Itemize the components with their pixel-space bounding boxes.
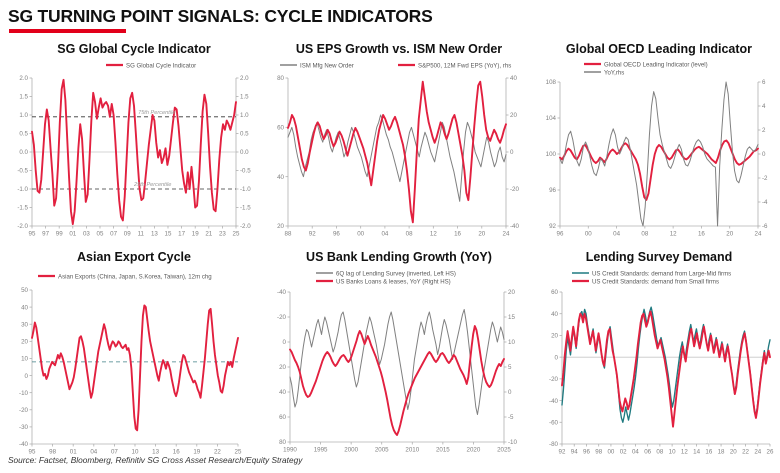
x-tick-label: 06 bbox=[644, 449, 651, 456]
y-tick-label: 0 bbox=[283, 339, 287, 346]
x-tick-label: 96 bbox=[557, 231, 564, 238]
x-tick-label: 09 bbox=[124, 231, 131, 238]
legend-label: Asian Exports (China, Japan, S.Korea, Ta… bbox=[58, 273, 212, 280]
y2-tick-label: 1.5 bbox=[240, 94, 249, 101]
x-tick-label: 2015 bbox=[436, 447, 450, 454]
x-tick-label: 19 bbox=[192, 231, 199, 238]
legend-label: US Credit Standards: demand from Large-M… bbox=[592, 270, 731, 277]
y-tick-label: 0.5 bbox=[19, 131, 28, 138]
x-tick-label: 92 bbox=[559, 449, 566, 456]
panel-us-eps-vs-ism: US EPS Growth vs. ISM New Order ISM Mfg … bbox=[268, 42, 530, 242]
y-tick-label: -0.5 bbox=[17, 168, 28, 175]
x-tick-label: 23 bbox=[219, 231, 226, 238]
x-tick-label: 11 bbox=[138, 231, 145, 238]
y-tick-label: 30 bbox=[21, 321, 28, 328]
chart-svg: 6Q lag of Lending Survey (inverted, Left… bbox=[268, 264, 530, 460]
x-tick-label: 99 bbox=[56, 231, 63, 238]
y-tick-label: 0.0 bbox=[19, 149, 28, 156]
chart-annotation: 75th Percentile bbox=[138, 110, 175, 116]
y-tick-label: -20 bbox=[277, 314, 287, 321]
y-tick-label: 10 bbox=[21, 356, 28, 363]
y-tick-label: 20 bbox=[551, 333, 558, 340]
y-tick-label: 0 bbox=[25, 373, 29, 380]
y-tick-label: 80 bbox=[279, 439, 286, 446]
x-tick-label: 97 bbox=[42, 231, 49, 238]
x-tick-label: 98 bbox=[595, 449, 602, 456]
y-tick-label: -1.0 bbox=[17, 186, 28, 193]
y-tick-label: -1.5 bbox=[17, 205, 28, 212]
legend-entry: US Credit Standards: demand from Small f… bbox=[572, 278, 719, 285]
y2-tick-label: 0 bbox=[762, 151, 766, 158]
y-tick-label: -40 bbox=[19, 441, 29, 448]
x-tick-label: 08 bbox=[656, 449, 663, 456]
y-tick-label: 20 bbox=[21, 339, 28, 346]
panel-title: Lending Survey Demand bbox=[538, 250, 780, 264]
chart-annotation: 25th Percentile bbox=[133, 182, 171, 188]
x-tick-label: 2020 bbox=[467, 447, 481, 454]
x-tick-label: 20 bbox=[726, 231, 733, 238]
y2-tick-label: -2 bbox=[762, 175, 768, 182]
panel-title: US Bank Lending Growth (YoY) bbox=[268, 250, 530, 264]
legend-label: US Banks Loans & leases, YoY (Right HS) bbox=[336, 278, 451, 285]
x-tick-label: 15 bbox=[165, 231, 172, 238]
y2-tick-label: -40 bbox=[510, 223, 520, 230]
x-tick-label: 12 bbox=[430, 231, 437, 238]
x-tick-label: 94 bbox=[571, 449, 578, 456]
x-tick-label: 18 bbox=[718, 449, 725, 456]
x-tick-label: 16 bbox=[705, 449, 712, 456]
series-line bbox=[288, 82, 506, 223]
x-tick-label: 96 bbox=[583, 449, 590, 456]
y-tick-label: 1.5 bbox=[19, 94, 28, 101]
y2-tick-label: 4 bbox=[762, 103, 766, 110]
y2-tick-label: 20 bbox=[510, 112, 517, 119]
y2-tick-label: 0.0 bbox=[240, 149, 249, 156]
x-tick-label: 08 bbox=[406, 231, 413, 238]
x-tick-label: 24 bbox=[755, 231, 762, 238]
y2-tick-label: -1.0 bbox=[240, 186, 251, 193]
legend-entry: S&P500, 12M Fwd EPS (YoY), rhs bbox=[398, 62, 511, 69]
y2-tick-label: 10 bbox=[508, 339, 515, 346]
x-tick-label: 25 bbox=[233, 231, 240, 238]
chart-svg: Global OECD Leading Indicator (level)YoY… bbox=[538, 56, 780, 242]
y-tick-label: 0 bbox=[555, 354, 559, 361]
source-note: Source: Factset, Bloomberg, Refinitiv SG… bbox=[8, 455, 302, 465]
y-tick-label: 1.0 bbox=[19, 112, 28, 119]
legend-label: SG Global Cycle Indicator bbox=[126, 62, 196, 69]
x-tick-label: 95 bbox=[29, 231, 36, 238]
y-tick-label: -60 bbox=[549, 419, 559, 426]
x-tick-label: 04 bbox=[632, 449, 639, 456]
x-tick-label: 22 bbox=[742, 449, 749, 456]
y-tick-label: -40 bbox=[549, 398, 559, 405]
legend-label: 6Q lag of Lending Survey (inverted, Left… bbox=[336, 270, 456, 277]
x-tick-label: 26 bbox=[767, 449, 774, 456]
y2-tick-label: -5 bbox=[508, 414, 514, 421]
legend-entry: US Banks Loans & leases, YoY (Right HS) bbox=[316, 278, 451, 285]
plot-area: US Credit Standards: demand from Large-M… bbox=[538, 264, 780, 460]
x-tick-label: 24 bbox=[754, 449, 761, 456]
y-tick-label: 60 bbox=[551, 289, 558, 296]
x-tick-label: 12 bbox=[681, 449, 688, 456]
y2-tick-label: -0.5 bbox=[240, 168, 251, 175]
panel-title: US EPS Growth vs. ISM New Order bbox=[268, 42, 530, 56]
title-underline-rule bbox=[9, 29, 126, 33]
y-tick-label: 80 bbox=[277, 75, 284, 82]
x-tick-label: 01 bbox=[69, 231, 76, 238]
y2-tick-label: -10 bbox=[508, 439, 518, 446]
legend-label: S&P500, 12M Fwd EPS (YoY), rhs bbox=[418, 62, 511, 69]
panel-sg-global-cycle-indicator: SG Global Cycle Indicator SG Global Cycl… bbox=[6, 42, 262, 242]
y2-tick-label: 2 bbox=[762, 127, 766, 134]
y-tick-label: -10 bbox=[19, 390, 29, 397]
y-tick-label: 50 bbox=[21, 287, 28, 294]
panel-title: Asian Export Cycle bbox=[6, 250, 262, 264]
y-tick-label: 40 bbox=[21, 304, 28, 311]
panel-title: SG Global Cycle Indicator bbox=[6, 42, 262, 56]
x-tick-label: 17 bbox=[178, 231, 185, 238]
y-tick-label: 40 bbox=[277, 174, 284, 181]
x-tick-label: 00 bbox=[607, 449, 614, 456]
y-tick-label: 60 bbox=[277, 125, 284, 132]
y-tick-label: 40 bbox=[279, 389, 286, 396]
x-tick-label: 92 bbox=[309, 231, 316, 238]
chart-svg: ISM Mfg New OrderS&P500, 12M Fwd EPS (Yo… bbox=[268, 56, 530, 242]
chart-svg: US Credit Standards: demand from Large-M… bbox=[538, 264, 780, 460]
y-tick-label: -2.0 bbox=[17, 223, 28, 230]
y-tick-label: -80 bbox=[549, 441, 559, 448]
y2-tick-label: 0 bbox=[510, 149, 514, 156]
x-tick-label: 16 bbox=[454, 231, 461, 238]
legend-label: US Credit Standards: demand from Small f… bbox=[592, 278, 719, 285]
x-tick-label: 21 bbox=[205, 231, 212, 238]
chart-svg: SG Global Cycle Indicator2.01.51.00.50.0… bbox=[6, 56, 262, 242]
series-line bbox=[560, 82, 758, 226]
x-tick-label: 12 bbox=[670, 231, 677, 238]
y2-tick-label: 0 bbox=[508, 389, 512, 396]
x-tick-label: 2005 bbox=[375, 447, 389, 454]
panel-us-bank-lending-growth: US Bank Lending Growth (YoY) 6Q lag of L… bbox=[268, 250, 530, 460]
legend-entry: SG Global Cycle Indicator bbox=[106, 62, 196, 69]
y2-tick-label: 15 bbox=[508, 314, 515, 321]
chart-svg: Asian Exports (China, Japan, S.Korea, Ta… bbox=[6, 264, 262, 460]
x-tick-label: 02 bbox=[620, 449, 627, 456]
y-tick-label: -20 bbox=[19, 407, 29, 414]
x-tick-label: 13 bbox=[151, 231, 158, 238]
y-tick-label: 92 bbox=[549, 223, 556, 230]
series-line bbox=[32, 305, 238, 430]
x-tick-label: 24 bbox=[503, 231, 510, 238]
legend-entry: Global OECD Leading Indicator (level) bbox=[584, 61, 708, 68]
panel-title: Global OECD Leading Indicator bbox=[538, 42, 780, 56]
y2-tick-label: -20 bbox=[510, 186, 520, 193]
page-title: SG TURNING POINT SIGNALS: CYCLE INDICATO… bbox=[8, 6, 433, 27]
legend-label: Global OECD Leading Indicator (level) bbox=[604, 61, 708, 68]
y2-tick-label: 6 bbox=[762, 79, 766, 86]
slide-root: SG TURNING POINT SIGNALS: CYCLE INDICATO… bbox=[0, 0, 780, 473]
legend-label: YoY,rhs bbox=[604, 69, 624, 76]
y-tick-label: -30 bbox=[19, 424, 29, 431]
y-tick-label: 40 bbox=[551, 311, 558, 318]
x-tick-label: 20 bbox=[478, 231, 485, 238]
panel-global-oecd-leading-indicator: Global OECD Leading Indicator Global OEC… bbox=[538, 42, 780, 242]
x-tick-label: 14 bbox=[693, 449, 700, 456]
x-tick-label: 1995 bbox=[314, 447, 328, 454]
x-tick-label: 04 bbox=[381, 231, 388, 238]
legend-entry: Asian Exports (China, Japan, S.Korea, Ta… bbox=[38, 273, 212, 280]
y-tick-label: 108 bbox=[546, 79, 557, 86]
legend-label: ISM Mfg New Order bbox=[300, 62, 354, 69]
panel-asian-export-cycle: Asian Export Cycle Asian Exports (China,… bbox=[6, 250, 262, 460]
plot-area: Global OECD Leading Indicator (level)YoY… bbox=[538, 56, 780, 242]
x-tick-label: 88 bbox=[285, 231, 292, 238]
plot-area: ISM Mfg New OrderS&P500, 12M Fwd EPS (Yo… bbox=[268, 56, 530, 242]
x-tick-label: 03 bbox=[83, 231, 90, 238]
x-tick-label: 2000 bbox=[344, 447, 358, 454]
y2-tick-label: 40 bbox=[510, 75, 517, 82]
x-tick-label: 00 bbox=[585, 231, 592, 238]
legend-entry: ISM Mfg New Order bbox=[280, 62, 354, 69]
x-tick-label: 16 bbox=[698, 231, 705, 238]
y-tick-label: -40 bbox=[277, 289, 287, 296]
plot-area: SG Global Cycle Indicator2.01.51.00.50.0… bbox=[6, 56, 262, 242]
y-tick-label: 100 bbox=[546, 151, 557, 158]
x-tick-label: 05 bbox=[97, 231, 104, 238]
x-tick-label: 96 bbox=[333, 231, 340, 238]
y-tick-label: 104 bbox=[546, 115, 557, 122]
panel-lending-survey-demand: Lending Survey Demand US Credit Standard… bbox=[538, 250, 780, 460]
y2-tick-label: 20 bbox=[508, 289, 515, 296]
x-tick-label: 10 bbox=[669, 449, 676, 456]
legend-entry: YoY,rhs bbox=[584, 69, 624, 76]
y2-tick-label: 1.0 bbox=[240, 112, 249, 119]
y2-tick-label: -2.0 bbox=[240, 223, 251, 230]
x-tick-label: 1990 bbox=[283, 447, 297, 454]
y2-tick-label: 0.5 bbox=[240, 131, 249, 138]
y-tick-label: 2.0 bbox=[19, 75, 28, 82]
y2-tick-label: 5 bbox=[508, 364, 512, 371]
x-tick-label: 20 bbox=[730, 449, 737, 456]
legend-entry: 6Q lag of Lending Survey (inverted, Left… bbox=[316, 270, 456, 277]
plot-area: Asian Exports (China, Japan, S.Korea, Ta… bbox=[6, 264, 262, 460]
y2-tick-label: -4 bbox=[762, 199, 768, 206]
plot-area: 6Q lag of Lending Survey (inverted, Left… bbox=[268, 264, 530, 460]
x-tick-label: 04 bbox=[613, 231, 620, 238]
x-tick-label: 00 bbox=[357, 231, 364, 238]
y-tick-label: 20 bbox=[277, 223, 284, 230]
y-tick-label: -20 bbox=[549, 376, 559, 383]
x-tick-label: 08 bbox=[641, 231, 648, 238]
y2-tick-label: -6 bbox=[762, 223, 768, 230]
series-line bbox=[560, 141, 758, 200]
y2-tick-label: -1.5 bbox=[240, 205, 251, 212]
y-tick-label: 20 bbox=[279, 364, 286, 371]
y-tick-label: 96 bbox=[549, 187, 556, 194]
legend-entry: US Credit Standards: demand from Large-M… bbox=[572, 270, 731, 277]
y2-tick-label: 2.0 bbox=[240, 75, 249, 82]
x-tick-label: 2010 bbox=[405, 447, 419, 454]
y-tick-label: 60 bbox=[279, 414, 286, 421]
x-tick-label: 07 bbox=[110, 231, 117, 238]
x-tick-label: 2025 bbox=[497, 447, 511, 454]
